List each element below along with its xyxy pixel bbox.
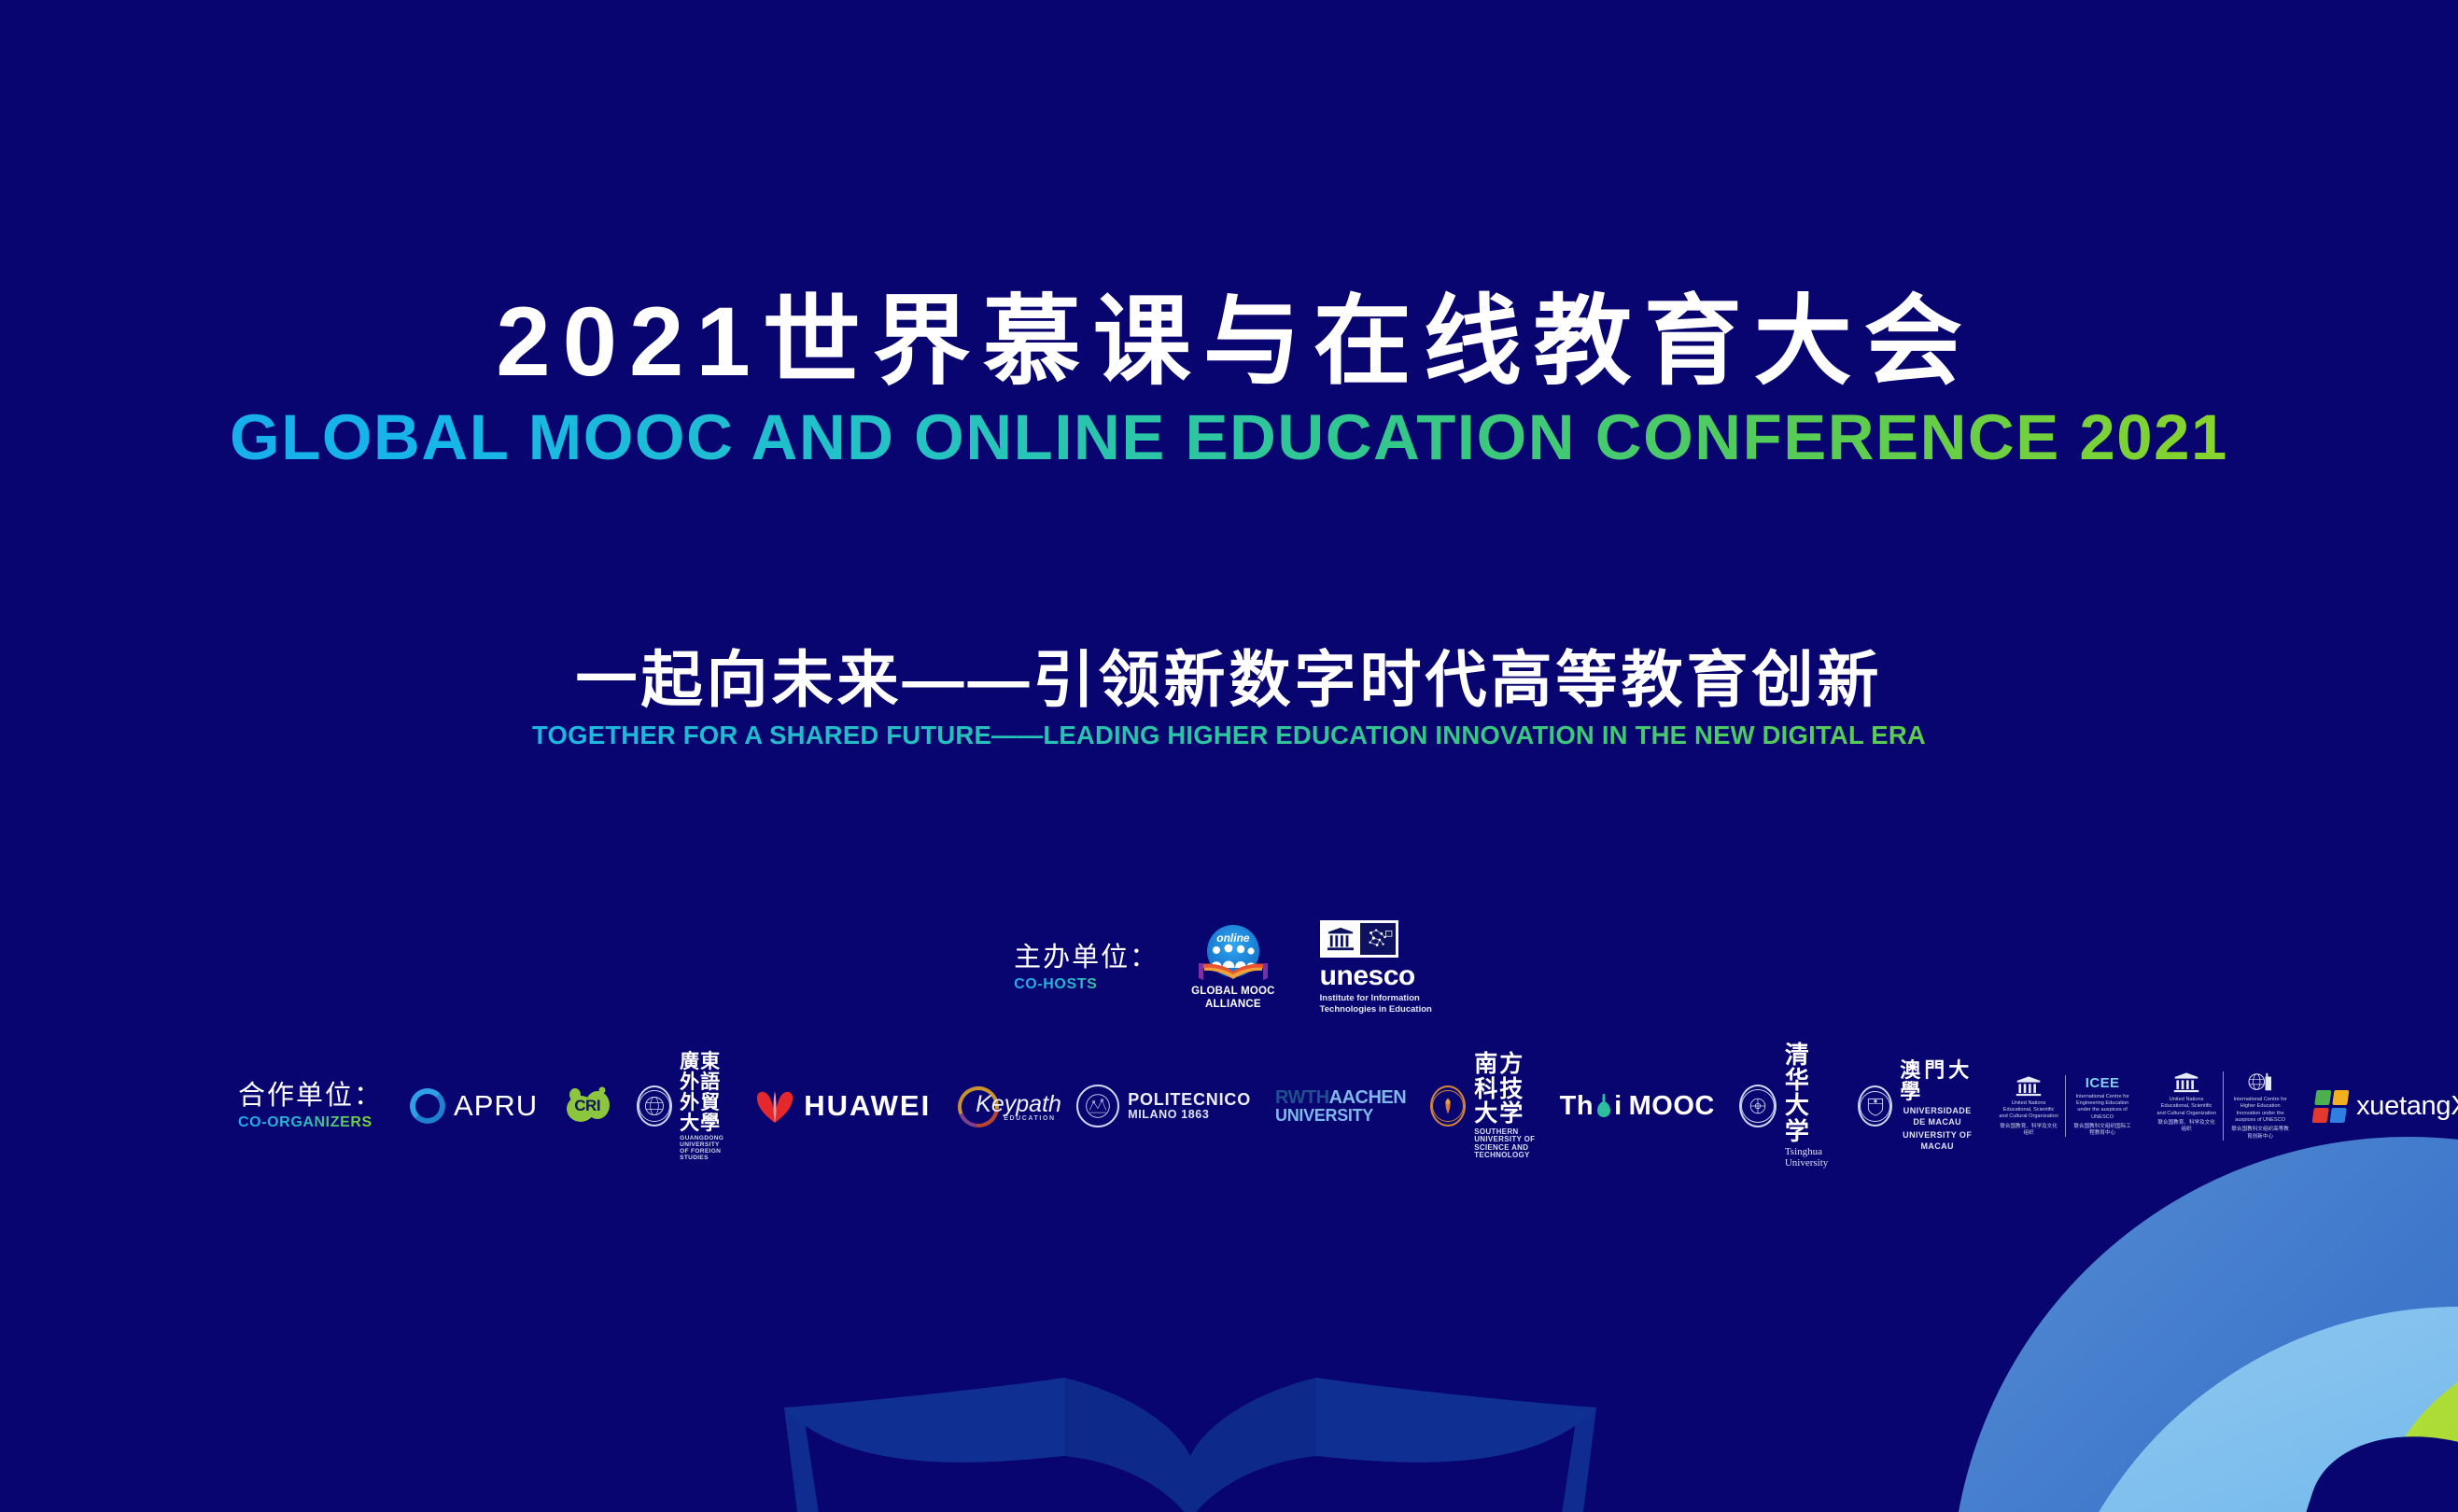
thai-mooc-part2: i xyxy=(1614,1091,1622,1122)
logo-keypath: Keypath EDUCATION xyxy=(943,1077,1064,1135)
xuetangx-wordmark: xuetangX xyxy=(2356,1091,2458,1122)
decorative-wedge-mask xyxy=(2283,1404,2458,1512)
thai-mooc-part3: MOOC xyxy=(1629,1091,1715,1122)
logo-politecnico-milano: POLITECNICO MILANO 1863 xyxy=(1064,1077,1263,1135)
gdufs-name-english: GUANGDONG UNIVERSITY OF FOREIGN STUDIES xyxy=(680,1136,729,1162)
logo-unesco-ichei: United Nations Educational, Scientific a… xyxy=(2144,1077,2302,1135)
logo-southern-university-of-science-and-technology: 南方科技大学 SOUTHERN UNIVERSITY OF SCIENCE AN… xyxy=(1418,1077,1547,1135)
icee-unesco-caption-en: United Nations Educational, Scientific a… xyxy=(1999,1100,2058,1121)
logo-xuetangx: xuetangX xyxy=(2302,1077,2458,1135)
thai-mooc-part1: Th xyxy=(1560,1091,1594,1122)
tsinghua-name-english: Tsinghua University xyxy=(1785,1147,1833,1169)
unesco-globe-network-icon xyxy=(1360,923,1396,955)
icee-divider xyxy=(2065,1075,2066,1138)
ichei-caption-en: International Centre for Higher Educatio… xyxy=(2230,1097,2290,1124)
tsinghua-seal-icon xyxy=(1739,1085,1777,1127)
gma-line2: ALLIANCE xyxy=(1191,999,1275,1012)
politecnico-seal-icon xyxy=(1076,1085,1119,1127)
logo-cri: CRI xyxy=(550,1077,625,1135)
decorative-green-wedge xyxy=(2346,1297,2458,1512)
gma-online-text: online xyxy=(1199,931,1268,945)
logo-unesco-icee: United Nations Educational, Scientific a… xyxy=(1987,1077,2144,1135)
global-mooc-alliance-icon: online xyxy=(1199,925,1268,983)
sustech-name-english: SOUTHERN UNIVERSITY OF SCIENCE AND TECHN… xyxy=(1474,1128,1535,1160)
logo-apru: APRU xyxy=(398,1077,550,1135)
logo-rwth-aachen-university: RWTHAACHEN UNIVERSITY xyxy=(1263,1077,1418,1135)
sustech-seal-icon xyxy=(1430,1085,1466,1127)
decorative-circle-dark-blue xyxy=(1951,1137,2458,1512)
xuetangx-squares-icon xyxy=(2312,1090,2350,1123)
icee-unesco-caption-cn: 联合国教育、科学及文化组织 xyxy=(1999,1124,2058,1138)
unesco-emblem xyxy=(1320,920,1398,958)
keypath-wordmark: Keypath xyxy=(976,1091,1061,1118)
macau-crest-icon xyxy=(1858,1085,1892,1127)
co-hosts-label: 主办单位： CO-HOSTS xyxy=(1014,943,1159,993)
global-mooc-alliance-wordmark: GLOBAL MOOC ALLIANCE xyxy=(1191,986,1275,1012)
logo-guangdong-university-of-foreign-studies: 廣東外語外貿大學 GUANGDONG UNIVERSITY OF FOREIGN… xyxy=(625,1077,741,1135)
thai-mooc-gourd-icon xyxy=(1594,1094,1613,1118)
rwth-line1: RWTHAACHEN xyxy=(1275,1088,1406,1107)
logo-tsinghua-university: 清华大学 Tsinghua University xyxy=(1727,1077,1846,1135)
co-organizers-label-chinese: 合作单位： xyxy=(238,1081,383,1112)
sustech-name-chinese: 南方科技大学 xyxy=(1474,1052,1535,1126)
co-organizers-row: 合作单位： CO-ORGANIZERS APRU xyxy=(238,1073,2458,1139)
background-decoration xyxy=(0,0,2458,1512)
logo-university-of-macau: 澳門大學 UNIVERSIDADE DE MACAU UNIVERSITY OF… xyxy=(1846,1077,1987,1135)
ichei-caption-cn: 联合国教科文组织高等教育创新中心 xyxy=(2230,1127,2290,1141)
gma-line1: GLOBAL MOOC xyxy=(1191,986,1275,999)
macau-name-portuguese: UNIVERSIDADE DE MACAU xyxy=(1900,1105,1974,1127)
ichei-divider xyxy=(2223,1071,2224,1141)
cri-wordmark: CRI xyxy=(562,1097,612,1115)
rwth-rwth-text: RWTH xyxy=(1275,1087,1329,1108)
logo-thai-mooc: Th i MOOC xyxy=(1548,1077,1727,1135)
co-hosts-row: 主办单位： CO-HOSTS online xyxy=(0,939,2458,997)
politecnico-line1: POLITECNICO xyxy=(1128,1091,1251,1110)
icee-wordmark: ICEE xyxy=(2086,1075,2120,1091)
unesco-institute-caption: Institute for Information Technologies i… xyxy=(1320,993,1432,1015)
icee-unesco-temple-icon xyxy=(2015,1075,2043,1098)
macau-name-english: UNIVERSITY OF MACAU xyxy=(1900,1129,1974,1152)
cri-leaf-icon: CRI xyxy=(562,1085,612,1127)
conference-banner: 2021世界慕课与在线教育大会 GLOBAL MOOC AND ONLINE E… xyxy=(0,0,2458,1512)
icee-caption-en: International Centre for Engineering Edu… xyxy=(2072,1094,2132,1121)
huawei-wordmark: HUAWEI xyxy=(804,1089,931,1123)
logo-unesco-iite: unesco Institute for Information Technol… xyxy=(1308,939,1444,997)
headline-block: 2021世界慕课与在线教育大会 GLOBAL MOOC AND ONLINE E… xyxy=(0,289,2458,473)
icee-caption-cn: 联合国教科文组织国际工程教育中心 xyxy=(2072,1124,2132,1138)
gdufs-name-chinese: 廣東外語外貿大學 xyxy=(680,1051,729,1133)
rwth-aachen-text: AACHEN xyxy=(1329,1087,1407,1108)
open-book-silhouette xyxy=(709,1351,1671,1512)
decorative-circle-light-blue xyxy=(2040,1307,2458,1512)
rwth-line2: UNIVERSITY xyxy=(1275,1107,1373,1125)
apru-wordmark: APRU xyxy=(454,1089,538,1123)
politecnico-line2: MILANO 1863 xyxy=(1128,1109,1209,1121)
apru-ring-icon xyxy=(410,1088,445,1124)
co-organizers-label-english: CO-ORGANIZERS xyxy=(238,1114,383,1131)
conference-title-english: GLOBAL MOOC AND ONLINE EDUCATION CONFERE… xyxy=(0,402,2458,473)
conference-title-chinese: 2021世界慕课与在线教育大会 xyxy=(0,289,2458,395)
co-hosts-label-chinese: 主办单位： xyxy=(1014,943,1159,973)
conference-theme-chinese: 一起向未来——引领新数字时代高等教育创新 xyxy=(0,646,2458,715)
theme-block: 一起向未来——引领新数字时代高等教育创新 TOGETHER FOR A SHAR… xyxy=(0,646,2458,750)
unesco-temple-icon xyxy=(1323,923,1358,955)
ichei-unesco-caption-en: United Nations Educational, Scientific a… xyxy=(2156,1097,2216,1117)
logo-huawei: HUAWEI xyxy=(741,1077,943,1135)
ichei-unesco-temple-icon xyxy=(2172,1071,2200,1094)
unesco-sub-line1: Institute for Information xyxy=(1320,993,1432,1004)
huawei-flower-icon xyxy=(753,1087,796,1125)
keypath-sub-wordmark: EDUCATION xyxy=(1004,1115,1056,1122)
logo-global-mooc-alliance: online xyxy=(1179,939,1287,997)
tsinghua-name-chinese: 清华大学 xyxy=(1785,1043,1833,1145)
unesco-wordmark: unesco xyxy=(1320,962,1415,990)
gdufs-seal-icon xyxy=(637,1085,672,1127)
co-organizers-label: 合作单位： CO-ORGANIZERS xyxy=(238,1081,383,1131)
co-hosts-label-english: CO-HOSTS xyxy=(1014,976,1159,993)
ichei-unesco-caption-cn: 联合国教育、科学及文化组织 xyxy=(2156,1120,2216,1134)
macau-name-chinese: 澳門大學 xyxy=(1900,1060,1974,1103)
unesco-sub-line2: Technologies in Education xyxy=(1320,1004,1432,1015)
conference-theme-english: TOGETHER FOR A SHARED FUTURE——LEADING HI… xyxy=(0,721,2458,750)
ichei-globe-building-icon xyxy=(2247,1071,2273,1094)
